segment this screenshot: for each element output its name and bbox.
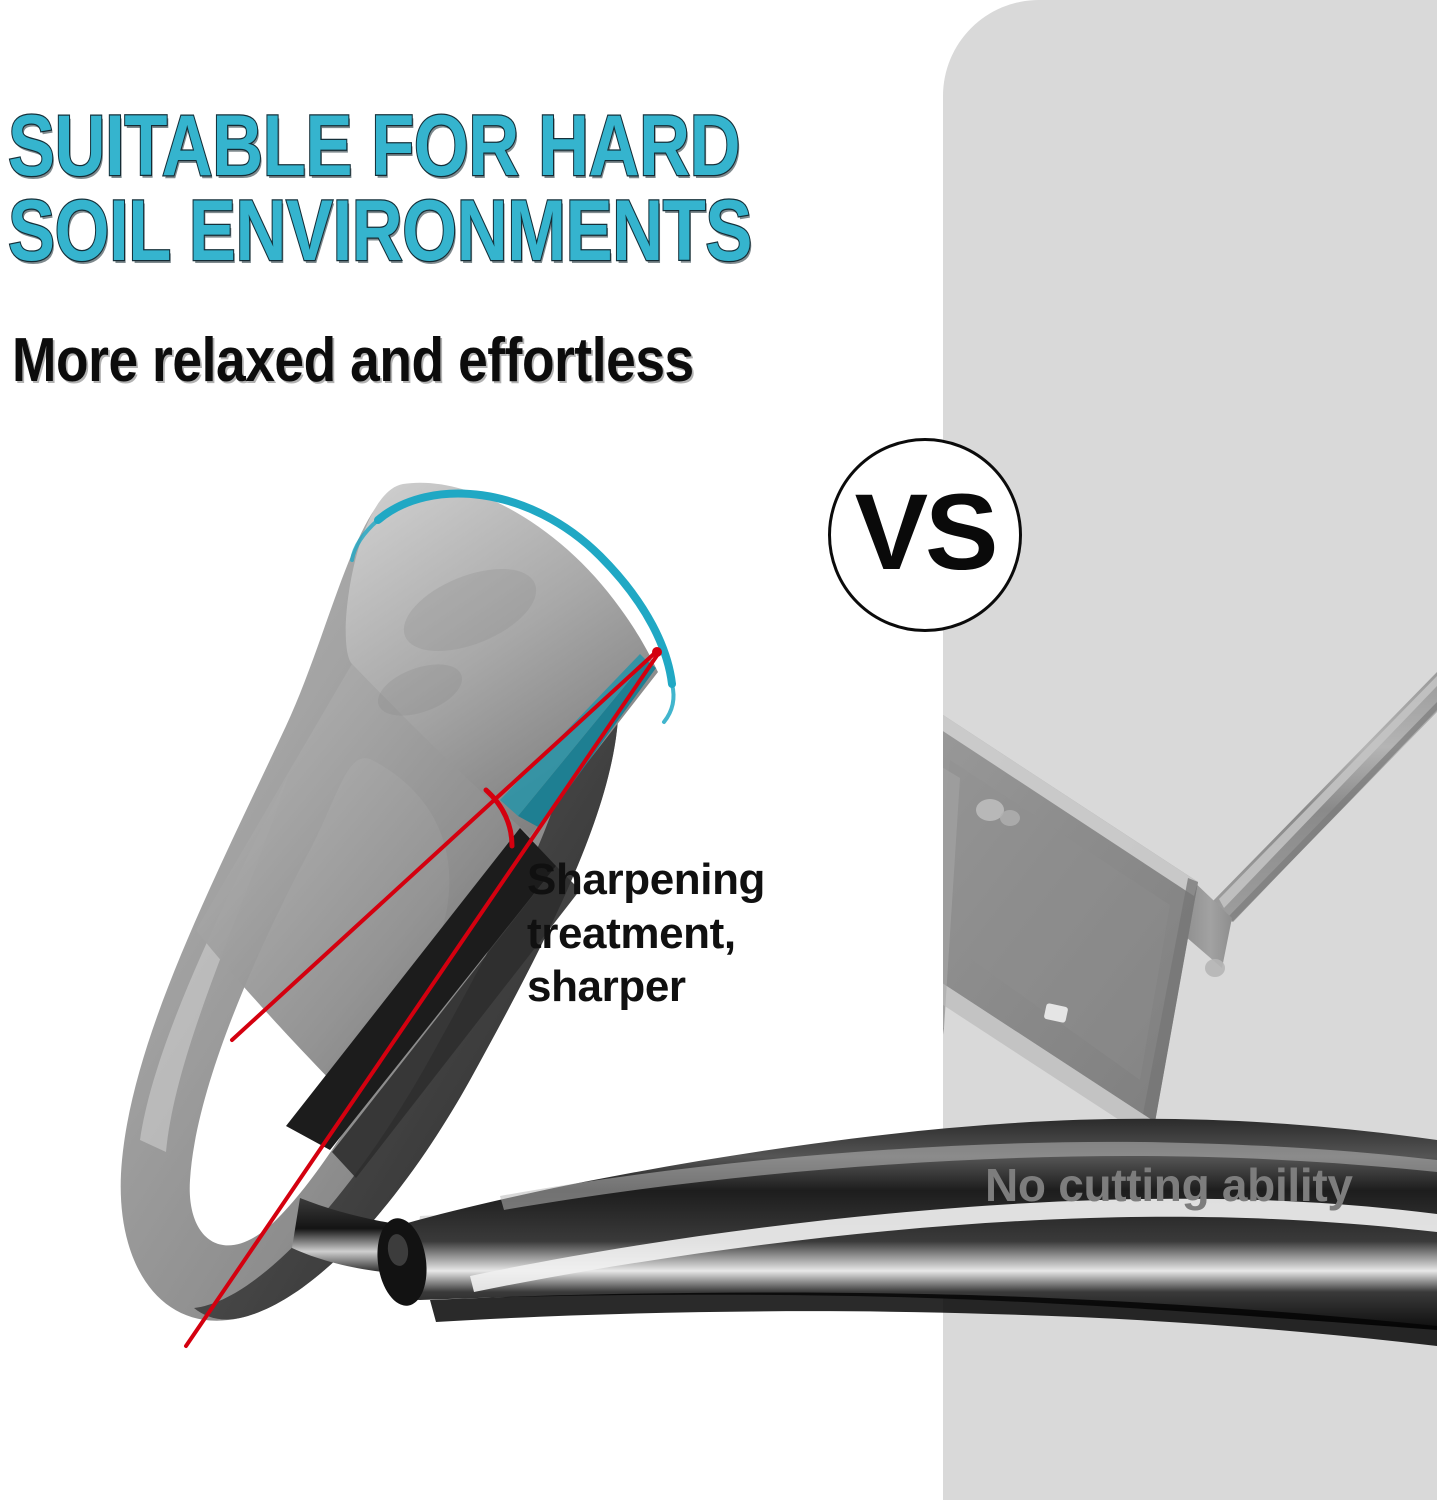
right-panel-background bbox=[943, 0, 1437, 1500]
left-annotation-line-3: sharper bbox=[527, 960, 765, 1014]
right-annotation: No cutting ability bbox=[985, 1160, 1353, 1211]
left-annotation-line-2: treatment, bbox=[527, 907, 765, 961]
left-annotation: Sharpening treatment, sharper bbox=[527, 853, 765, 1014]
product-comparison-graphic: SUITABLE FOR HARD SOIL ENVIRONMENTS More… bbox=[0, 0, 1437, 1500]
headline-line-1: SUITABLE FOR HARD bbox=[8, 104, 752, 189]
left-annotation-line-1: Sharpening bbox=[527, 853, 765, 907]
subheadline: More relaxed and effortless bbox=[12, 330, 694, 392]
headline-line-2: SOIL ENVIRONMENTS bbox=[8, 189, 752, 274]
headline: SUITABLE FOR HARD SOIL ENVIRONMENTS bbox=[8, 104, 915, 274]
vs-badge: VS bbox=[828, 438, 1022, 632]
vs-label: VS bbox=[855, 478, 996, 586]
